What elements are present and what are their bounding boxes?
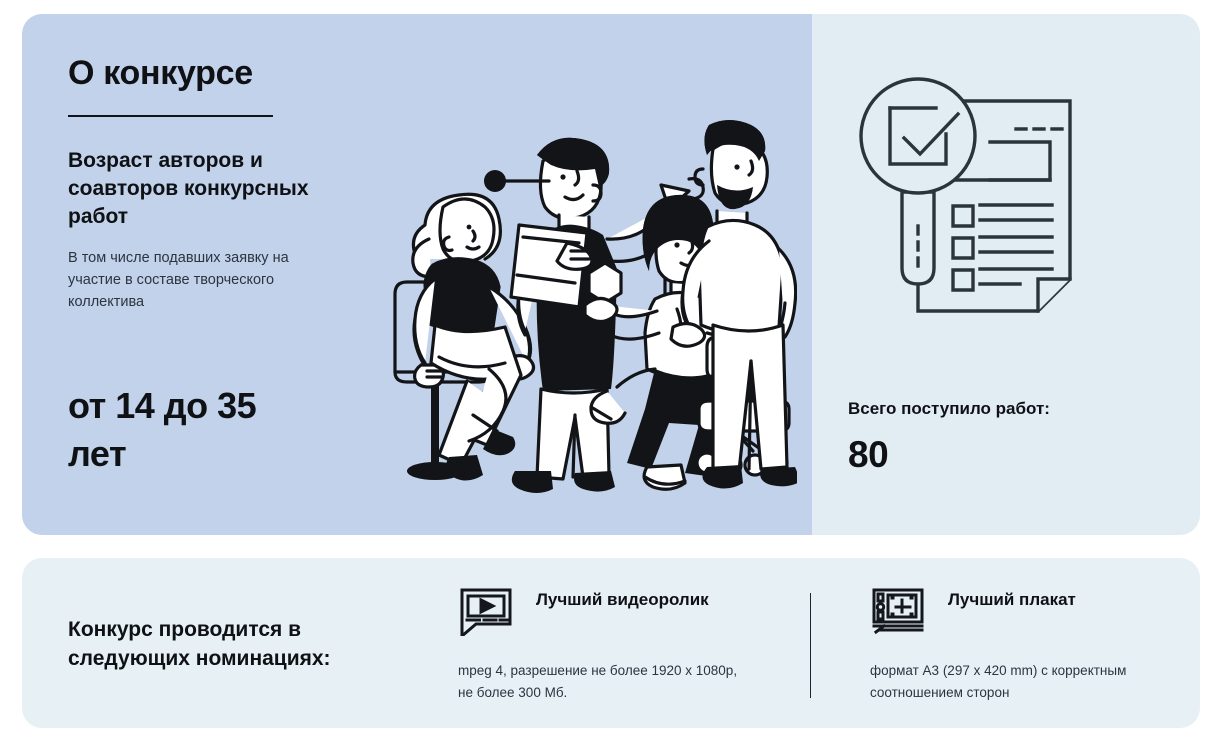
video-speech-bubble-play-icon	[458, 586, 514, 636]
nomination-title: Лучший плакат	[948, 586, 1076, 612]
nominations-heading: Конкурс проводится в следующих номинация…	[68, 615, 398, 673]
age-range-value: от 14 до 35 лет	[68, 382, 318, 478]
about-panel: О конкурсе Возраст авторов и соавторов к…	[22, 14, 812, 535]
title-divider	[68, 115, 273, 117]
magnifier-over-checklist-document-icon	[852, 76, 1092, 326]
total-submissions-value: 80	[848, 434, 888, 476]
nominations-divider	[810, 593, 811, 698]
four-young-people-line-illustration	[377, 119, 797, 494]
page-title: О конкурсе	[68, 54, 253, 93]
nomination-item-video: Лучший видеоролик mpeg 4, разрешение не …	[458, 586, 748, 704]
age-note: В том числе подавших заявку на участие в…	[68, 247, 340, 313]
submissions-panel: Всего поступило работ: 80	[812, 14, 1200, 535]
about-competition-card: О конкурсе Возраст авторов и соавторов к…	[22, 14, 1200, 535]
nomination-title: Лучший видеоролик	[536, 586, 709, 612]
graphics-tablet-stylus-icon	[870, 586, 926, 636]
nomination-item-poster: Лучший плакат формат А3 (297 x 420 mm) с…	[870, 586, 1170, 704]
age-heading: Возраст авторов и соавторов конкурсных р…	[68, 147, 358, 231]
nomination-description: формат А3 (297 x 420 mm) с корректным со…	[870, 660, 1170, 704]
nominations-card: Конкурс проводится в следующих номинация…	[22, 558, 1200, 728]
nomination-description: mpeg 4, разрешение не более 1920 х 1080р…	[458, 660, 738, 704]
total-submissions-label: Всего поступило работ:	[848, 399, 1050, 419]
